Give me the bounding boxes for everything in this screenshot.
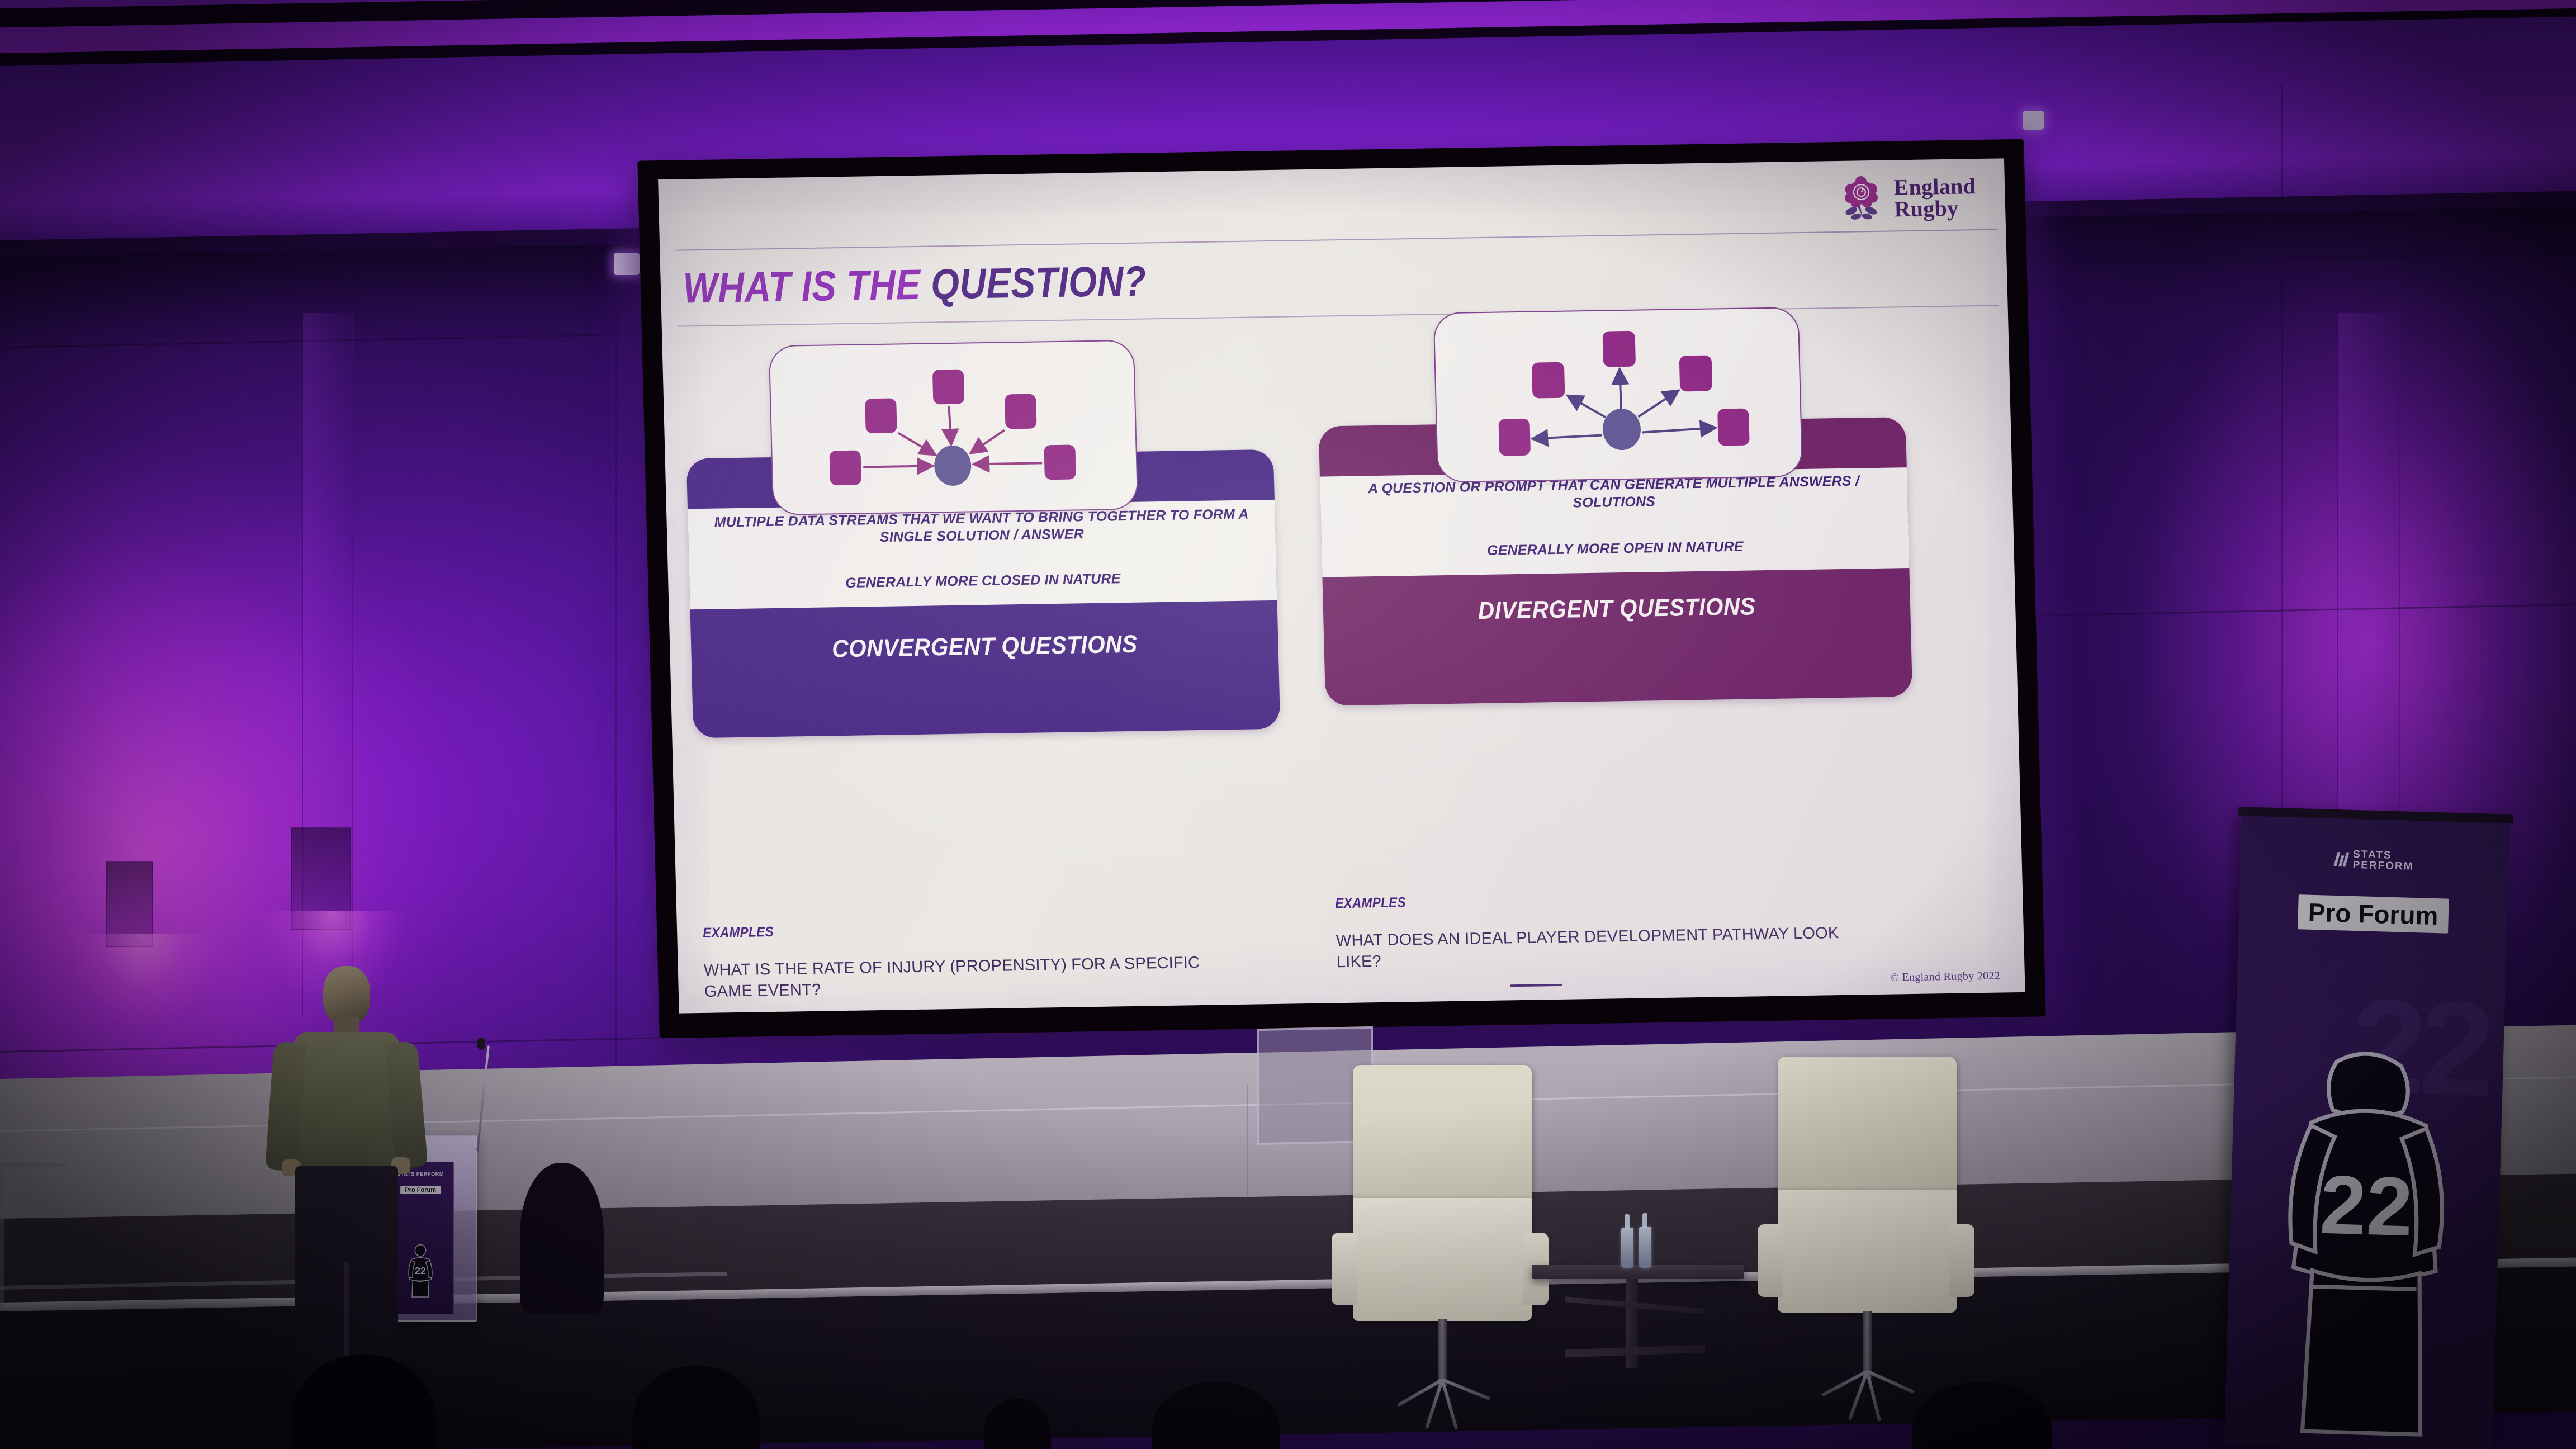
presentation-slide: England Rugby WHAT IS THE QUESTION? MULT…	[658, 158, 2025, 1013]
water-bottle-neck	[1625, 1214, 1630, 1229]
england-rugby-logo: England Rugby	[1838, 173, 1977, 222]
convergent-arrows-diagram	[769, 340, 1139, 515]
divergent-column: A QUESTION OR PROMPT THAT CAN GENERATE M…	[1317, 328, 1914, 728]
chair-backrest	[1778, 1057, 1957, 1191]
slide-title-part-1: WHAT IS THE	[683, 261, 921, 312]
chair-seat	[1778, 1190, 1957, 1313]
divergent-arrows-diagram	[1433, 307, 1803, 482]
chair-backrest	[1353, 1065, 1532, 1199]
presenter-head	[323, 966, 370, 1024]
banner-pro-forum-title: Pro Forum	[2298, 894, 2449, 933]
lectern-microphone	[477, 1038, 485, 1050]
convergent-concept: MULTIPLE DATA STREAMS THAT WE WANT TO BR…	[684, 338, 1281, 738]
convergent-diagram-svg	[770, 341, 1138, 514]
presenter	[274, 966, 419, 1408]
slide-copyright: © England Rugby 2022	[1890, 970, 2000, 984]
chair-armrest	[1332, 1233, 1357, 1305]
chair-stem	[1438, 1319, 1447, 1386]
conference-room-photo: England Rugby WHAT IS THE QUESTION? MULT…	[0, 0, 2576, 1449]
presenter-torso	[293, 1032, 400, 1172]
perform-word: PERFORM	[2352, 860, 2413, 872]
banner-jersey-number: 22	[2319, 1157, 2414, 1253]
divergent-example-2: HOW DO WE REDUCE COVID-19 TRANSMISSION R…	[1338, 1000, 1886, 1014]
chair-base	[1814, 1370, 1920, 1389]
divergent-example-1: WHAT DOES AN IDEAL PLAYER DEVELOPMENT PA…	[1336, 923, 1840, 973]
water-bottle-neck	[1642, 1213, 1647, 1228]
divergent-concept: A QUESTION OR PROMPT THAT CAN GENERATE M…	[1317, 328, 1914, 728]
convergent-examples: EXAMPLES WHAT IS THE RATE OF INJURY (PRO…	[703, 916, 1289, 1014]
wall-panel-edge	[615, 313, 617, 1096]
stage-handrail	[0, 1163, 66, 1307]
header-divider	[675, 229, 1997, 251]
divergent-diagram-svg	[1434, 308, 1802, 481]
slide-title-part-2: QUESTION?	[930, 257, 1147, 308]
stage-table-top	[1532, 1265, 1744, 1279]
pro-forum-banner: 22 STATS PERFORM Pro Forum 22	[2224, 813, 2510, 1449]
convergent-examples-heading: EXAMPLES	[703, 917, 1227, 941]
banner-body: 22 STATS PERFORM Pro Forum 22	[2224, 813, 2510, 1449]
ceiling-spotlight	[2023, 111, 2044, 130]
slide-title: WHAT IS THE QUESTION?	[683, 257, 1147, 312]
logo-line-2: Rugby	[1894, 197, 1977, 220]
wall-panel-edge	[2281, 84, 2283, 811]
projection-screen: England Rugby WHAT IS THE QUESTION? MULT…	[637, 139, 2046, 1038]
england-rugby-wordmark: England Rugby	[1893, 175, 1977, 220]
chair-armrest	[1949, 1224, 1974, 1297]
water-bottle	[1639, 1227, 1651, 1268]
convergent-column: MULTIPLE DATA STREAMS THAT WE WANT TO BR…	[684, 338, 1281, 738]
example-divider	[1510, 984, 1562, 987]
logo-line-1: England	[1893, 175, 1976, 198]
divergent-examples-heading: EXAMPLES	[1335, 888, 1859, 912]
water-bottle	[1621, 1228, 1633, 1268]
banner-player-graphic: 22	[2224, 1016, 2504, 1449]
convergent-example-1: WHAT IS THE RATE OF INJURY (PROPENSITY) …	[703, 953, 1207, 1002]
stats-perform-wordmark: STATS PERFORM	[2352, 849, 2414, 873]
stats-perform-logo: STATS PERFORM	[2335, 849, 2414, 873]
stage-chair-right	[1778, 1057, 1957, 1392]
chair-seat	[1353, 1198, 1532, 1321]
england-rose-icon	[1838, 175, 1886, 222]
divergent-examples: EXAMPLES WHAT DOES AN IDEAL PLAYER DEVEL…	[1335, 887, 1921, 1014]
stage-chair-left	[1353, 1065, 1532, 1400]
chair-stem	[1863, 1311, 1872, 1378]
wall-pillar	[2337, 313, 2400, 816]
seated-silhouette	[520, 1163, 604, 1314]
chair-base	[1389, 1378, 1495, 1397]
chair-armrest	[1758, 1224, 1783, 1297]
screen-frame: England Rugby WHAT IS THE QUESTION? MULT…	[637, 139, 2046, 1038]
ceiling-spotlight	[614, 253, 640, 275]
stats-perform-bars-icon	[2336, 852, 2348, 867]
